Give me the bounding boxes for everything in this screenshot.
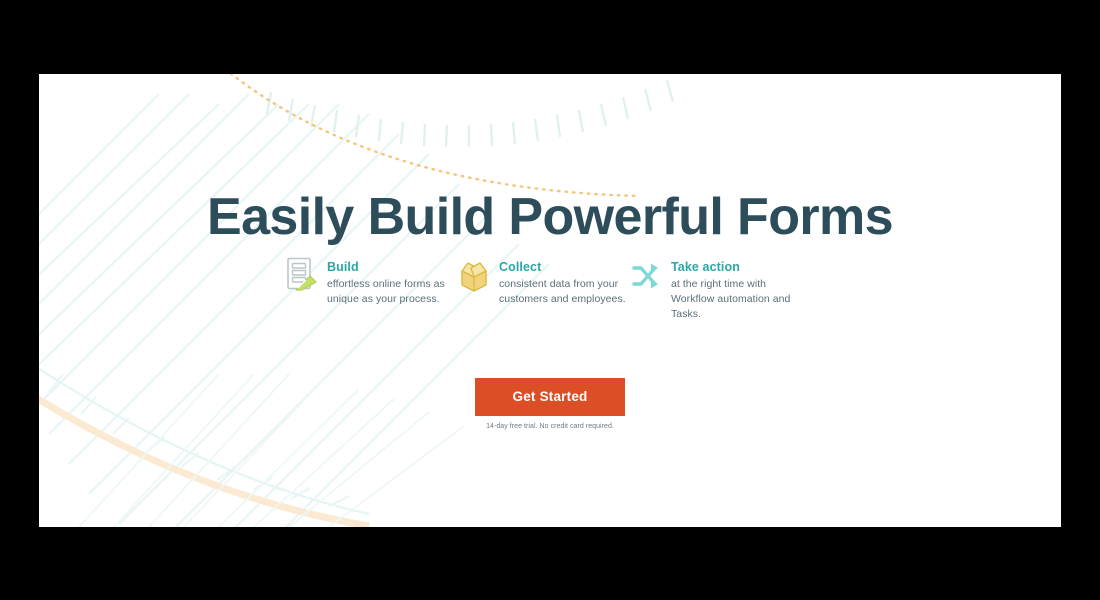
feature-description: at the right time with Workflow automati… [671,277,801,322]
feature-title: Collect [499,260,541,274]
feature-description: consistent data from your customers and … [499,277,629,307]
hero-panel: Easily Build Powerful Forms Bui [39,74,1061,527]
shuffle-arrows-icon [629,257,663,295]
feature-list: Build effortless online forms as unique … [285,256,815,322]
feature-text-take-action: Take action at the right time with Workf… [671,256,801,322]
feature-item-build: Build effortless online forms as unique … [285,256,457,307]
page-title: Easily Build Powerful Forms [39,189,1061,246]
feature-description: effortless online forms as unique as you… [327,277,457,307]
cta-section: Get Started 14-day free trial. No credit… [39,378,1061,430]
open-box-icon [457,257,491,295]
get-started-button[interactable]: Get Started [475,378,625,416]
feature-text-build: Build effortless online forms as unique … [327,256,457,307]
feature-title: Build [327,260,359,274]
screenshot-root: Easily Build Powerful Forms Bui [0,0,1100,600]
feature-title: Take action [671,260,740,274]
feature-text-collect: Collect consistent data from your custom… [499,256,629,307]
document-pencil-icon [285,257,319,295]
feature-item-take-action: Take action at the right time with Workf… [629,256,801,322]
trial-note: 14-day free trial. No credit card requir… [39,423,1061,430]
feature-item-collect: Collect consistent data from your custom… [457,256,629,307]
